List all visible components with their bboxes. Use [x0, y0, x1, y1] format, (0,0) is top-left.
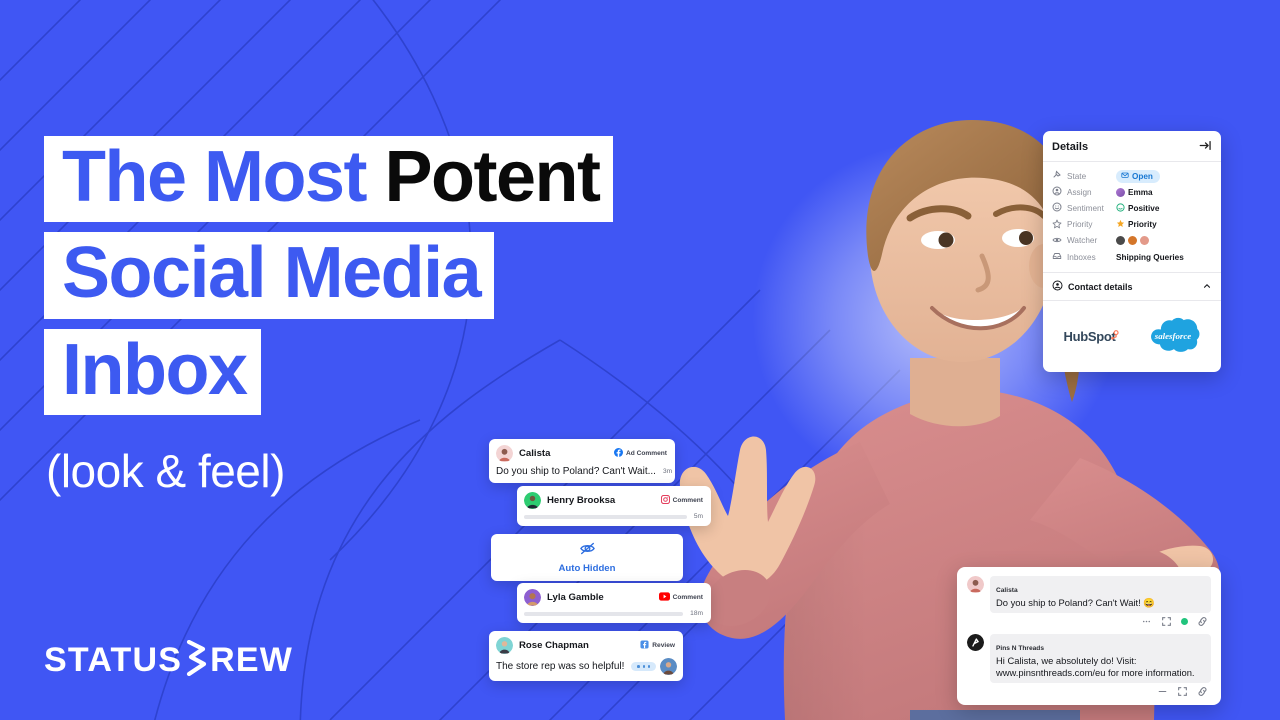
contact-details-label: Contact details — [1068, 282, 1133, 292]
comment-tag-henry: Comment — [673, 497, 703, 504]
detail-label-assign: Assign — [1067, 188, 1092, 197]
facebook-review-icon — [640, 640, 649, 651]
headline-line-1-light: The Most — [62, 137, 385, 217]
comment-author-calista: Calista — [519, 448, 550, 459]
conversation-message: Pins N Threads Hi Calista, we absolutely… — [967, 634, 1211, 697]
forward-icon[interactable] — [1161, 616, 1172, 627]
hubspot-logo[interactable]: HubSpot — [1063, 329, 1119, 344]
detail-value-state: Open — [1132, 172, 1153, 181]
forward-icon[interactable] — [1177, 686, 1188, 697]
details-panel-rows: State Open Assign Emma — [1043, 162, 1221, 272]
message-actions-1 — [967, 616, 1211, 627]
status-dot-icon[interactable] — [1181, 618, 1188, 625]
youtube-icon — [659, 592, 670, 603]
headline-line-2-text: Social Media — [62, 233, 480, 313]
detail-value-assign: Emma — [1128, 188, 1153, 197]
detail-value-inboxes: Shipping Queries — [1116, 253, 1184, 262]
detail-row-watcher[interactable]: Watcher — [1052, 233, 1212, 249]
comment-card-henry[interactable]: Henry Brooksa Comment 5m — [517, 486, 711, 526]
statusbrew-logo: STATUS REW — [44, 640, 293, 681]
conversation-card[interactable]: Calista Do you ship to Poland? Can't Wai… — [957, 567, 1221, 705]
facebook-icon — [614, 448, 623, 459]
watcher-avatar-2 — [1128, 236, 1137, 245]
message-text-1: Do you ship to Poland? Can't Wait! 😄 — [996, 597, 1205, 609]
eye-icon — [1052, 235, 1062, 247]
detail-label-inboxes: Inboxes — [1067, 253, 1096, 262]
comment-text-rose: The store rep was so helpful! — [496, 661, 624, 672]
ellipsis-icon[interactable] — [1141, 616, 1152, 627]
link-icon[interactable] — [1197, 616, 1208, 627]
detail-row-state[interactable]: State Open — [1052, 168, 1212, 184]
auto-hidden-card[interactable]: Auto Hidden — [491, 534, 683, 581]
message-actions-2 — [967, 686, 1211, 697]
comment-author-lyla: Lyla Gamble — [547, 592, 604, 603]
comment-tag-lyla: Comment — [673, 594, 703, 601]
sentiment-positive-icon — [1116, 203, 1125, 214]
minus-icon[interactable] — [1157, 686, 1168, 697]
detail-row-sentiment[interactable]: Sentiment Positive — [1052, 200, 1212, 216]
salesforce-logo[interactable]: salesforce — [1145, 316, 1201, 356]
headline-line-2: Social Media — [44, 232, 494, 318]
inbox-icon — [1052, 251, 1062, 263]
message-author-1: Calista — [996, 587, 1018, 594]
logo-text-part1: STATUS — [44, 641, 182, 680]
detail-label-watcher: Watcher — [1067, 236, 1097, 245]
salesforce-logo-text: salesforce — [1153, 331, 1190, 341]
headline-line-1: The Most Potent — [44, 136, 613, 222]
comment-author-henry: Henry Brooksa — [547, 495, 615, 506]
headline-line-3: Inbox — [44, 329, 261, 415]
pin-icon — [1052, 170, 1062, 182]
detail-row-assign[interactable]: Assign Emma — [1052, 184, 1212, 200]
comment-placeholder-bar — [524, 612, 683, 616]
watcher-avatar-1 — [1116, 236, 1125, 245]
avatar-calista — [496, 445, 513, 462]
details-panel-title: Details — [1052, 141, 1088, 153]
watcher-avatar-3 — [1140, 236, 1149, 245]
eye-off-icon — [579, 544, 596, 561]
detail-label-priority: Priority — [1067, 220, 1092, 229]
avatar-pins-n-threads — [967, 634, 984, 651]
hero-subtitle: (look & feel) — [46, 444, 285, 498]
logo-b-mark-icon — [183, 640, 209, 681]
comment-placeholder-bar — [524, 515, 687, 519]
contact-details-section[interactable]: Contact details — [1043, 272, 1221, 301]
detail-label-sentiment: Sentiment — [1067, 204, 1104, 213]
avatar-lyla — [524, 589, 541, 606]
comment-text-calista: Do you ship to Poland? Can't Wait... — [496, 466, 656, 477]
avatar-rose — [496, 637, 513, 654]
avatar-henry — [524, 492, 541, 509]
instagram-icon — [661, 495, 670, 506]
headline-line-1-bold: Potent — [385, 137, 600, 217]
details-panel: Details State Open — [1043, 131, 1221, 372]
avatar-emma — [1116, 188, 1125, 197]
user-circle-icon — [1052, 186, 1062, 198]
comment-time-henry: 5m — [694, 513, 703, 520]
comment-tag-calista: Ad Comment — [626, 450, 667, 457]
envelope-icon — [1121, 171, 1129, 181]
link-icon[interactable] — [1197, 686, 1208, 697]
details-panel-header: Details — [1043, 131, 1221, 162]
conversation-message: Calista Do you ship to Poland? Can't Wai… — [967, 576, 1211, 627]
message-text-2: Hi Calista, we absolutely do! Visit: www… — [996, 655, 1205, 679]
typing-indicator — [631, 662, 656, 671]
star-filled-icon — [1116, 219, 1125, 230]
comment-time-calista: 3m — [663, 468, 672, 475]
star-icon — [1052, 219, 1062, 231]
crm-integrations: HubSpot salesforce — [1043, 301, 1221, 372]
detail-value-priority: Priority — [1128, 220, 1157, 229]
avatar-rose-reply — [660, 658, 677, 675]
comment-card-lyla[interactable]: Lyla Gamble Comment 18m — [517, 583, 711, 623]
headline-line-3-text: Inbox — [62, 330, 247, 410]
detail-row-inboxes[interactable]: Inboxes Shipping Queries — [1052, 249, 1212, 265]
detail-value-sentiment: Positive — [1128, 204, 1159, 213]
comment-time-lyla: 18m — [690, 610, 703, 617]
watcher-avatars — [1116, 236, 1149, 245]
comment-tag-rose: Review — [652, 642, 675, 649]
comment-author-rose: Rose Chapman — [519, 640, 589, 651]
auto-hidden-label: Auto Hidden — [499, 563, 675, 574]
hero-headline: The Most Potent Social Media Inbox — [44, 136, 613, 425]
comment-card-rose[interactable]: Rose Chapman Review The store rep was so… — [489, 631, 683, 681]
detail-row-priority[interactable]: Priority Priority — [1052, 217, 1212, 233]
chevron-up-icon[interactable] — [1202, 281, 1212, 293]
contact-icon — [1052, 280, 1063, 293]
smiley-icon — [1052, 202, 1062, 214]
status-badge-open[interactable]: Open — [1116, 170, 1160, 183]
avatar-calista-message — [967, 576, 984, 593]
comment-card-calista[interactable]: Calista Ad Comment Do you ship to Poland… — [489, 439, 675, 483]
logo-text-part2: REW — [210, 641, 293, 680]
arrow-right-to-line-icon[interactable] — [1199, 139, 1212, 154]
message-author-2: Pins N Threads — [996, 645, 1044, 652]
detail-label-state: State — [1067, 172, 1086, 181]
